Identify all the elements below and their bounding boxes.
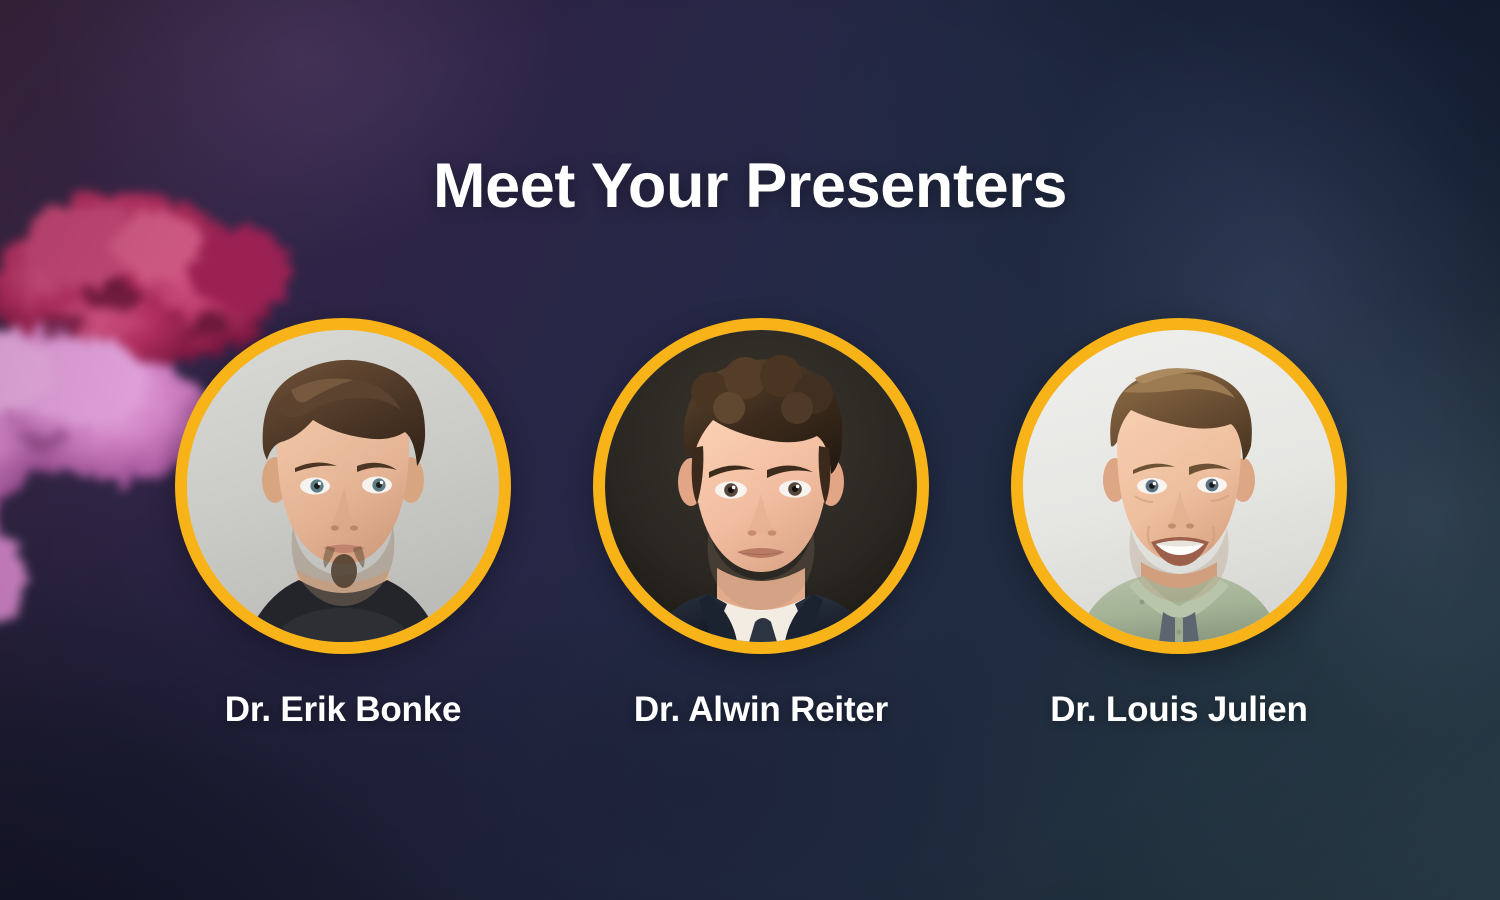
presenter-card-erik-bonke[interactable]: Dr. Erik Bonke (150, 318, 536, 730)
presenter-slide: Meet Your Presenters (0, 0, 1500, 900)
portrait-erik-bonke (187, 330, 499, 642)
presenter-card-alwin-reiter[interactable]: Dr. Alwin Reiter (568, 318, 954, 730)
avatar-ring (593, 318, 929, 654)
avatar-ring (175, 318, 511, 654)
portrait-alwin-reiter (605, 330, 917, 642)
portrait-louis-julien (1023, 330, 1335, 642)
presenter-name: Dr. Louis Julien (1050, 690, 1307, 730)
avatar (605, 330, 917, 642)
presenter-name: Dr. Erik Bonke (225, 690, 461, 730)
avatar (1023, 330, 1335, 642)
avatar (187, 330, 499, 642)
page-title: Meet Your Presenters (0, 155, 1500, 218)
avatar-ring (1011, 318, 1347, 654)
presenters-row: Dr. Erik Bonke (150, 318, 1372, 730)
presenter-card-louis-julien[interactable]: Dr. Louis Julien (986, 318, 1372, 730)
presenter-name: Dr. Alwin Reiter (634, 690, 888, 730)
